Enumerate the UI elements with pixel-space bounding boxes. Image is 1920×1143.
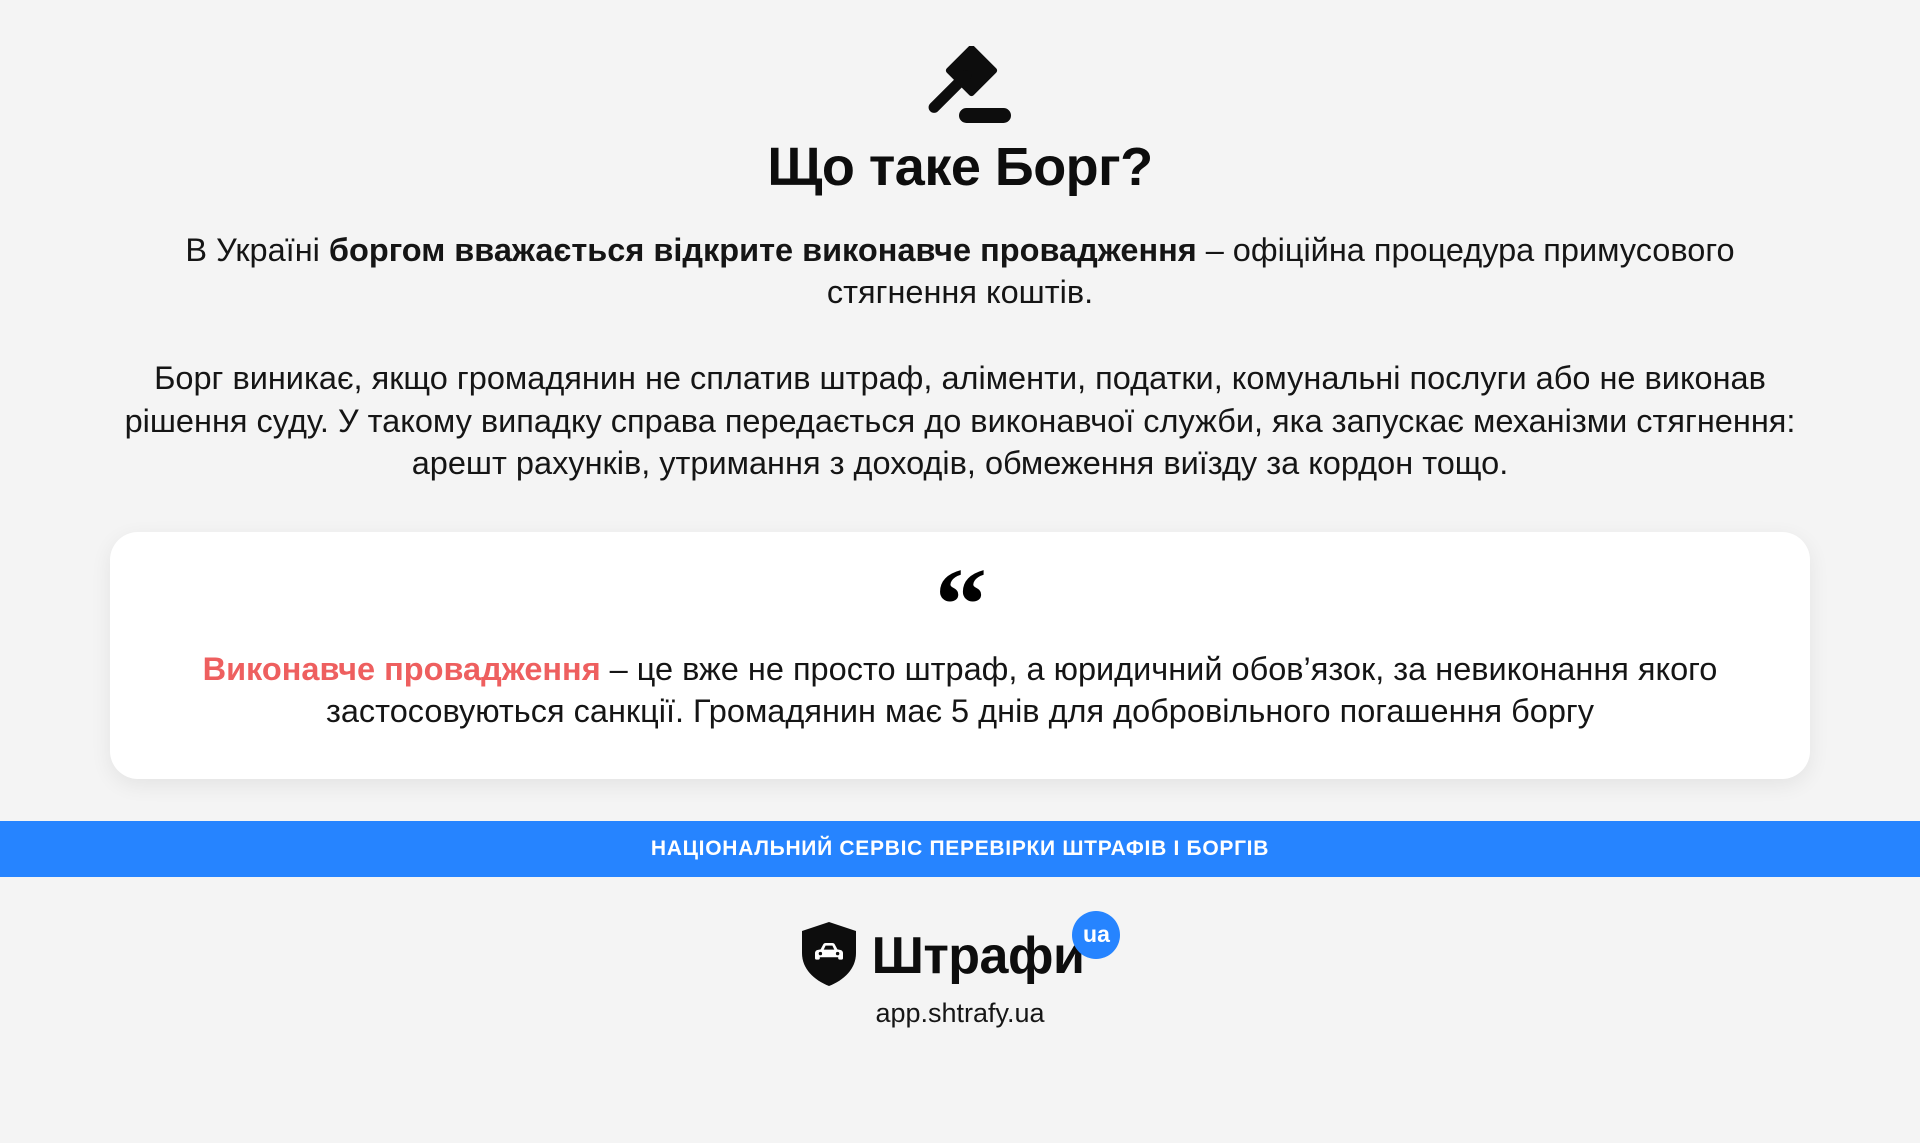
banner-text: НАЦІОНАЛЬНИЙ СЕРВІС ПЕРЕВІРКИ ШТРАФІВ І …: [651, 837, 1269, 861]
blue-banner: НАЦІОНАЛЬНИЙ СЕРВІС ПЕРЕВІРКИ ШТРАФІВ І …: [0, 821, 1920, 877]
quote-accent-text: Виконавче провадження: [203, 651, 601, 687]
gavel-icon-wrap: [0, 44, 1920, 126]
ua-badge: ua: [1072, 911, 1120, 959]
infographic-page: Що таке Борг? В Україні боргом вважаєтьс…: [0, 0, 1920, 1143]
quote-mark-icon: “: [180, 568, 1740, 642]
quote-text: Виконавче провадження – це вже не просто…: [180, 648, 1740, 733]
quote-card-wrap: “ Виконавче провадження – це вже не прос…: [0, 532, 1920, 779]
shield-car-icon: [800, 921, 858, 992]
intro-paragraph: В Україні боргом вважається відкрите вик…: [110, 230, 1810, 313]
main-content: Що таке Борг? В Україні боргом вважаєтьс…: [0, 0, 1920, 779]
intro-prefix: В Україні: [185, 232, 329, 268]
site-url[interactable]: app.shtrafy.ua: [875, 998, 1044, 1029]
quote-card: “ Виконавче провадження – це вже не прос…: [110, 532, 1810, 779]
page-title: Що таке Борг?: [0, 136, 1920, 198]
body-paragraph: Борг виникає, якщо громадянин не сплатив…: [100, 357, 1820, 484]
footer: Штрафи ua app.shtrafy.ua: [0, 877, 1920, 1143]
logo-wordmark: Штрафи: [872, 930, 1085, 982]
gavel-icon: [908, 46, 1012, 124]
intro-bold: боргом вважається відкрите виконавче про…: [329, 232, 1197, 268]
logo[interactable]: Штрафи ua: [800, 921, 1121, 992]
